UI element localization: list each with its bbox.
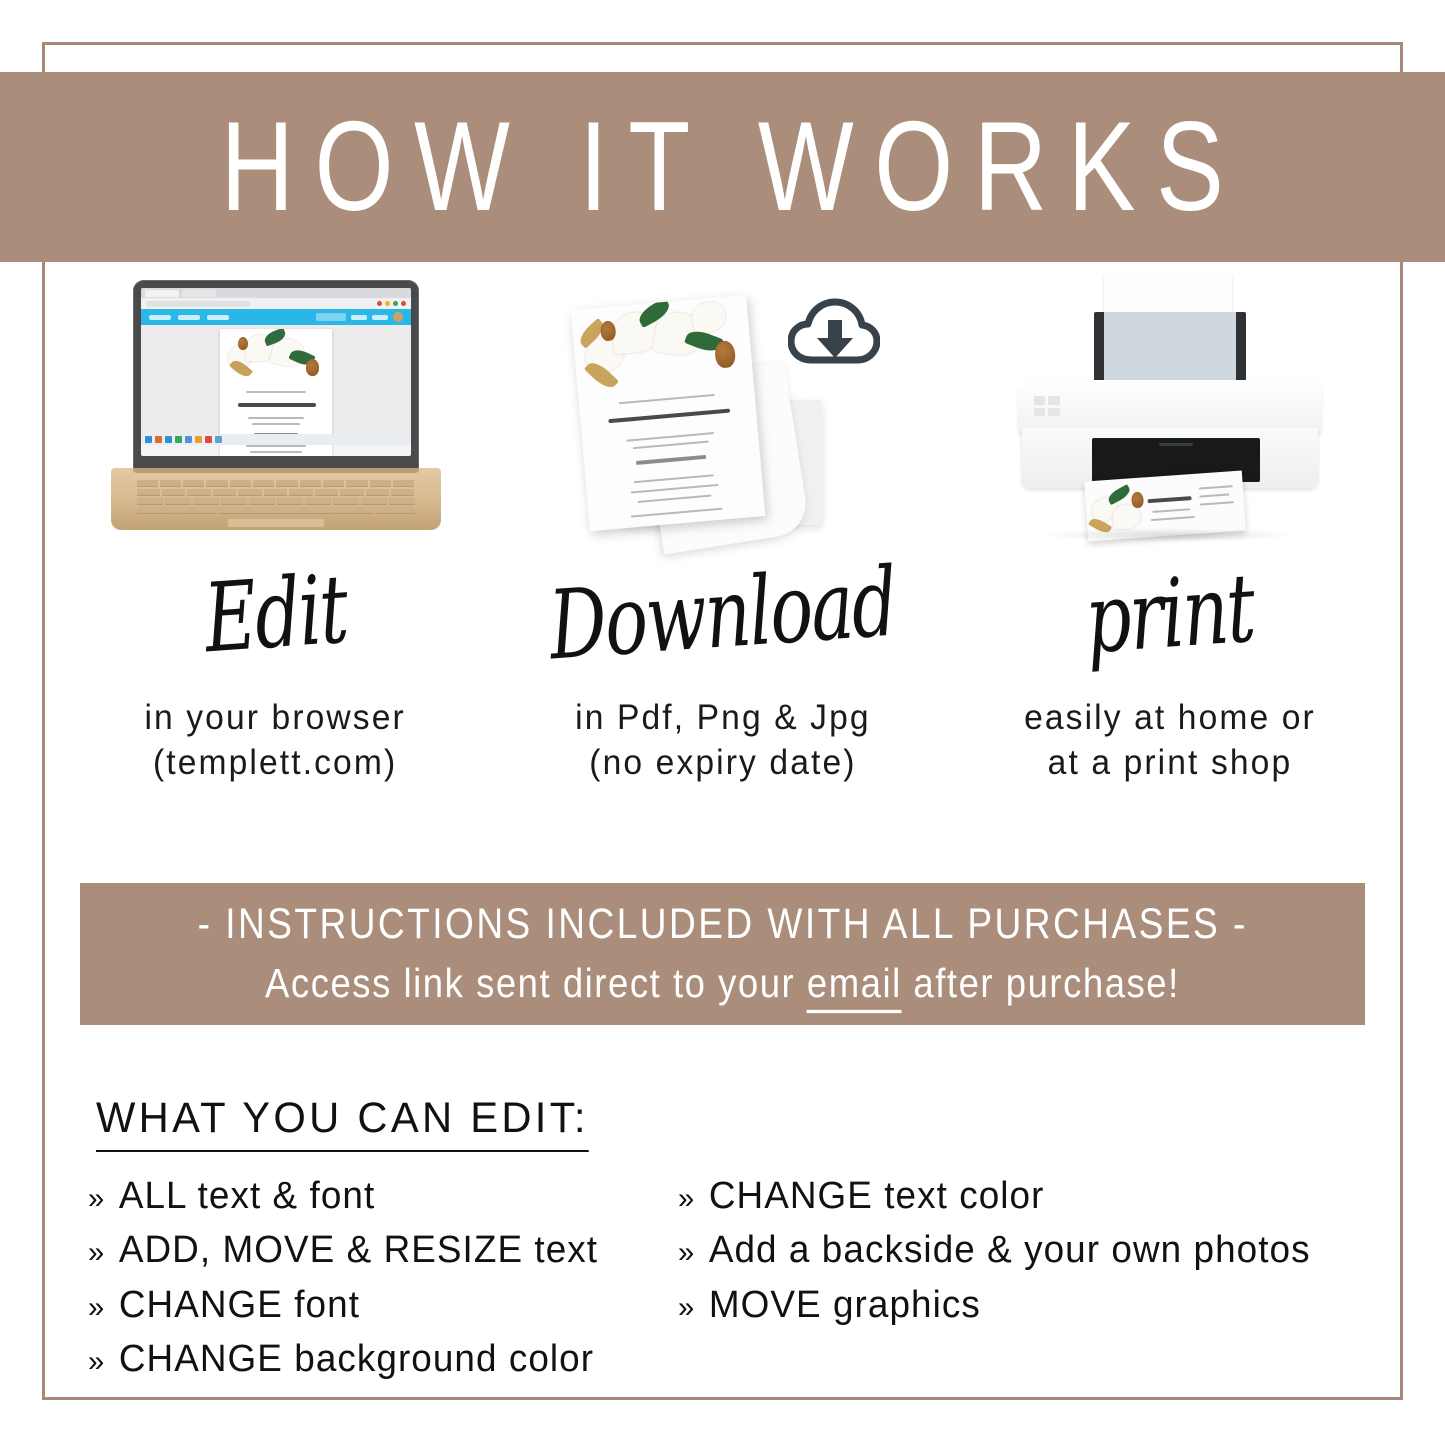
instructions-subline: Access link sent direct to your email af… [265, 961, 1180, 1007]
printer-body-top [1018, 380, 1322, 434]
step-download-art [499, 272, 946, 572]
bullet-marker: » [678, 1179, 695, 1218]
step-caption-line1: easily at home or [1024, 696, 1316, 741]
step-caption: in Pdf, Png & Jpg (no expiry date) [575, 696, 871, 786]
steps-row: Edit in your browser (templett.com) [52, 272, 1393, 812]
step-caption-line2: (templett.com) [145, 741, 406, 786]
list-item: » CHANGE background color [88, 1335, 660, 1384]
list-item: » CHANGE text color [678, 1172, 1376, 1221]
bullet-marker: » [88, 1233, 105, 1272]
list-item-label: Add a backside & your own photos [709, 1226, 1311, 1275]
cloud-download-icon [788, 296, 880, 374]
step-script-label: print [1082, 561, 1256, 667]
step-caption: in your browser (templett.com) [145, 696, 406, 786]
list-item-label: MOVE graphics [709, 1281, 981, 1330]
printer-icon [1000, 276, 1340, 558]
step-caption-line2: at a print shop [1024, 741, 1316, 786]
step-caption-line1: in your browser [145, 696, 406, 741]
laptop-icon [111, 280, 441, 530]
browser-tab-strip [141, 288, 411, 298]
browser-url-bar [141, 298, 411, 309]
page-title: HOW IT WORKS [200, 103, 1244, 230]
edit-section-heading: WHAT YOU CAN EDIT: [96, 1094, 589, 1152]
step-edit-art [52, 272, 499, 572]
step-print-art [946, 272, 1393, 572]
os-taskbar [141, 434, 411, 445]
editor-toolbar [141, 309, 411, 325]
bullet-marker: » [678, 1288, 695, 1327]
list-item: » Add a backside & your own photos [678, 1226, 1376, 1275]
laptop-lid [133, 280, 419, 470]
edit-section-columns: » ALL text & font » ADD, MOVE & RESIZE t… [88, 1172, 1398, 1390]
header-banner: HOW IT WORKS [0, 72, 1445, 262]
edit-list-left: » ALL text & font » ADD, MOVE & RESIZE t… [88, 1172, 678, 1390]
invitation-envelope-icon [558, 282, 888, 552]
step-edit: Edit in your browser (templett.com) [52, 272, 499, 812]
editor-canvas [141, 325, 411, 445]
printer-shadow [1040, 528, 1300, 542]
list-item: » CHANGE font [88, 1281, 660, 1330]
instructions-subline-after: after purchase! [902, 961, 1180, 1006]
printer-paper-tray [1094, 312, 1246, 386]
bullet-marker: » [88, 1179, 105, 1218]
laptop-screen [141, 288, 411, 456]
list-item-label: CHANGE background color [119, 1335, 594, 1384]
step-script-label: Download [546, 555, 898, 674]
printer-control-buttons[interactable] [1034, 396, 1060, 416]
list-item: » ALL text & font [88, 1172, 660, 1221]
step-caption-line2: (no expiry date) [575, 741, 871, 786]
step-caption: easily at home or at a print shop [1024, 696, 1316, 786]
bullet-marker: » [88, 1342, 105, 1381]
list-item-label: CHANGE text color [709, 1172, 1045, 1221]
instructions-banner: - INSTRUCTIONS INCLUDED WITH ALL PURCHAS… [80, 883, 1365, 1025]
instructions-subline-before: Access link sent direct to your [265, 961, 807, 1006]
poster-canvas: HOW IT WORKS [0, 0, 1445, 1445]
laptop-base [111, 468, 441, 530]
list-item-label: ADD, MOVE & RESIZE text [119, 1226, 598, 1275]
laptop-keyboard [137, 480, 415, 514]
step-caption-line1: in Pdf, Png & Jpg [575, 696, 871, 741]
bullet-marker: » [678, 1233, 695, 1272]
step-script-label: Edit [201, 562, 349, 667]
list-item: » MOVE graphics [678, 1281, 1376, 1330]
list-item: » ADD, MOVE & RESIZE text [88, 1226, 660, 1275]
bullet-marker: » [88, 1288, 105, 1327]
step-print: print easily at home or at a print shop [946, 272, 1393, 812]
invitation-card [570, 295, 765, 531]
step-download: Download in Pdf, Png & Jpg (no expiry da… [499, 272, 946, 812]
list-item-label: CHANGE font [119, 1281, 360, 1330]
instructions-headline: - INSTRUCTIONS INCLUDED WITH ALL PURCHAS… [197, 900, 1247, 948]
edit-list-right: » CHANGE text color » Add a backside & y… [678, 1172, 1398, 1390]
list-item-label: ALL text & font [119, 1172, 375, 1221]
email-link[interactable]: email [807, 961, 902, 1013]
laptop-trackpad [228, 519, 324, 527]
